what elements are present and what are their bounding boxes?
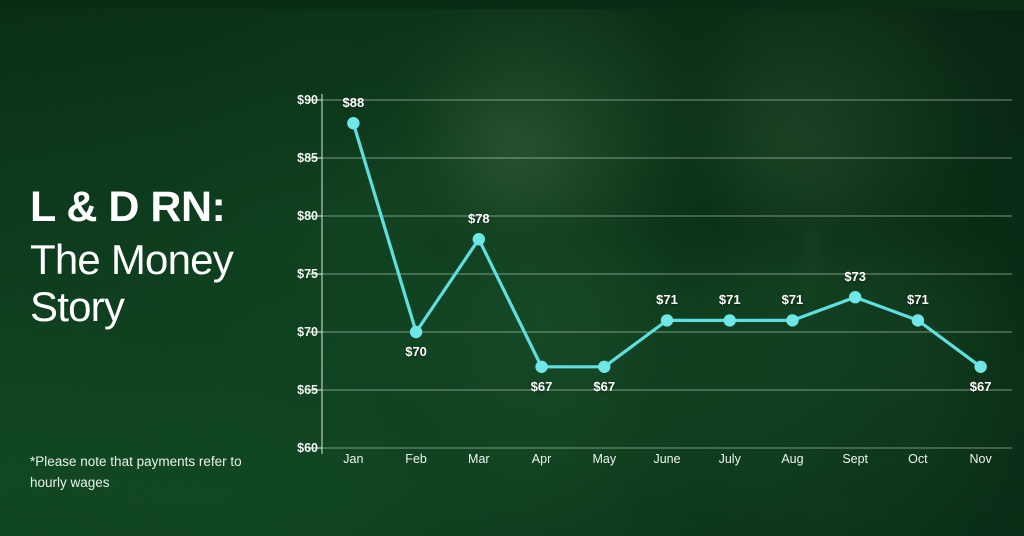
- data-point-marker[interactable]: [347, 117, 359, 129]
- data-point-label: $70: [405, 344, 427, 359]
- gridlines-group: [322, 100, 1012, 448]
- x-axis-label-jan: Jan: [343, 452, 363, 466]
- headline-line-two-a: The Money: [30, 236, 310, 283]
- headline-block: L & D RN: The Money Story: [30, 186, 310, 330]
- x-axis-label-oct: Oct: [908, 452, 927, 466]
- headline-line-two: The Money Story: [30, 236, 310, 330]
- data-point-marker[interactable]: [598, 361, 610, 373]
- infographic-canvas: L & D RN: The Money Story *Please note t…: [0, 0, 1024, 536]
- data-point-marker[interactable]: [724, 314, 736, 326]
- data-point-label: $67: [531, 379, 553, 394]
- headline-line-one: L & D RN:: [30, 186, 310, 230]
- data-point-label: $71: [907, 292, 929, 307]
- footnote-text: *Please note that payments refer to hour…: [30, 452, 280, 494]
- data-point-label: $71: [719, 292, 741, 307]
- x-axis-label-may: May: [592, 452, 616, 466]
- headline-line-two-b: Story: [30, 283, 310, 330]
- y-axis-label: $60: [274, 441, 318, 455]
- data-point-marker[interactable]: [410, 326, 422, 338]
- data-line: [353, 123, 980, 367]
- data-point-label: $78: [468, 211, 490, 226]
- x-axis-label-aug: Aug: [781, 452, 803, 466]
- y-axis-label: $85: [274, 151, 318, 165]
- data-point-marker[interactable]: [473, 233, 485, 245]
- data-point-label: $71: [782, 292, 804, 307]
- x-axis-label-sept: Sept: [842, 452, 868, 466]
- data-point-label: $71: [656, 292, 678, 307]
- x-axis-label-july: July: [719, 452, 741, 466]
- x-axis-label-nov: Nov: [970, 452, 992, 466]
- x-axis-label-mar: Mar: [468, 452, 490, 466]
- data-point-marker[interactable]: [912, 314, 924, 326]
- data-point-label: $88: [343, 95, 365, 110]
- data-point-label: $67: [593, 379, 615, 394]
- data-point-marker[interactable]: [786, 314, 798, 326]
- data-point-marker[interactable]: [661, 314, 673, 326]
- x-axis-label-feb: Feb: [405, 452, 427, 466]
- data-point-marker[interactable]: [849, 291, 861, 303]
- y-axis-label: $65: [274, 383, 318, 397]
- data-point-marker[interactable]: [974, 361, 986, 373]
- y-axis-label: $90: [274, 93, 318, 107]
- x-axis-label-june: June: [653, 452, 680, 466]
- data-point-label: $67: [970, 379, 992, 394]
- data-point-label: $73: [844, 269, 866, 284]
- data-markers-group: [347, 117, 987, 373]
- data-point-marker[interactable]: [535, 361, 547, 373]
- x-axis-label-apr: Apr: [532, 452, 551, 466]
